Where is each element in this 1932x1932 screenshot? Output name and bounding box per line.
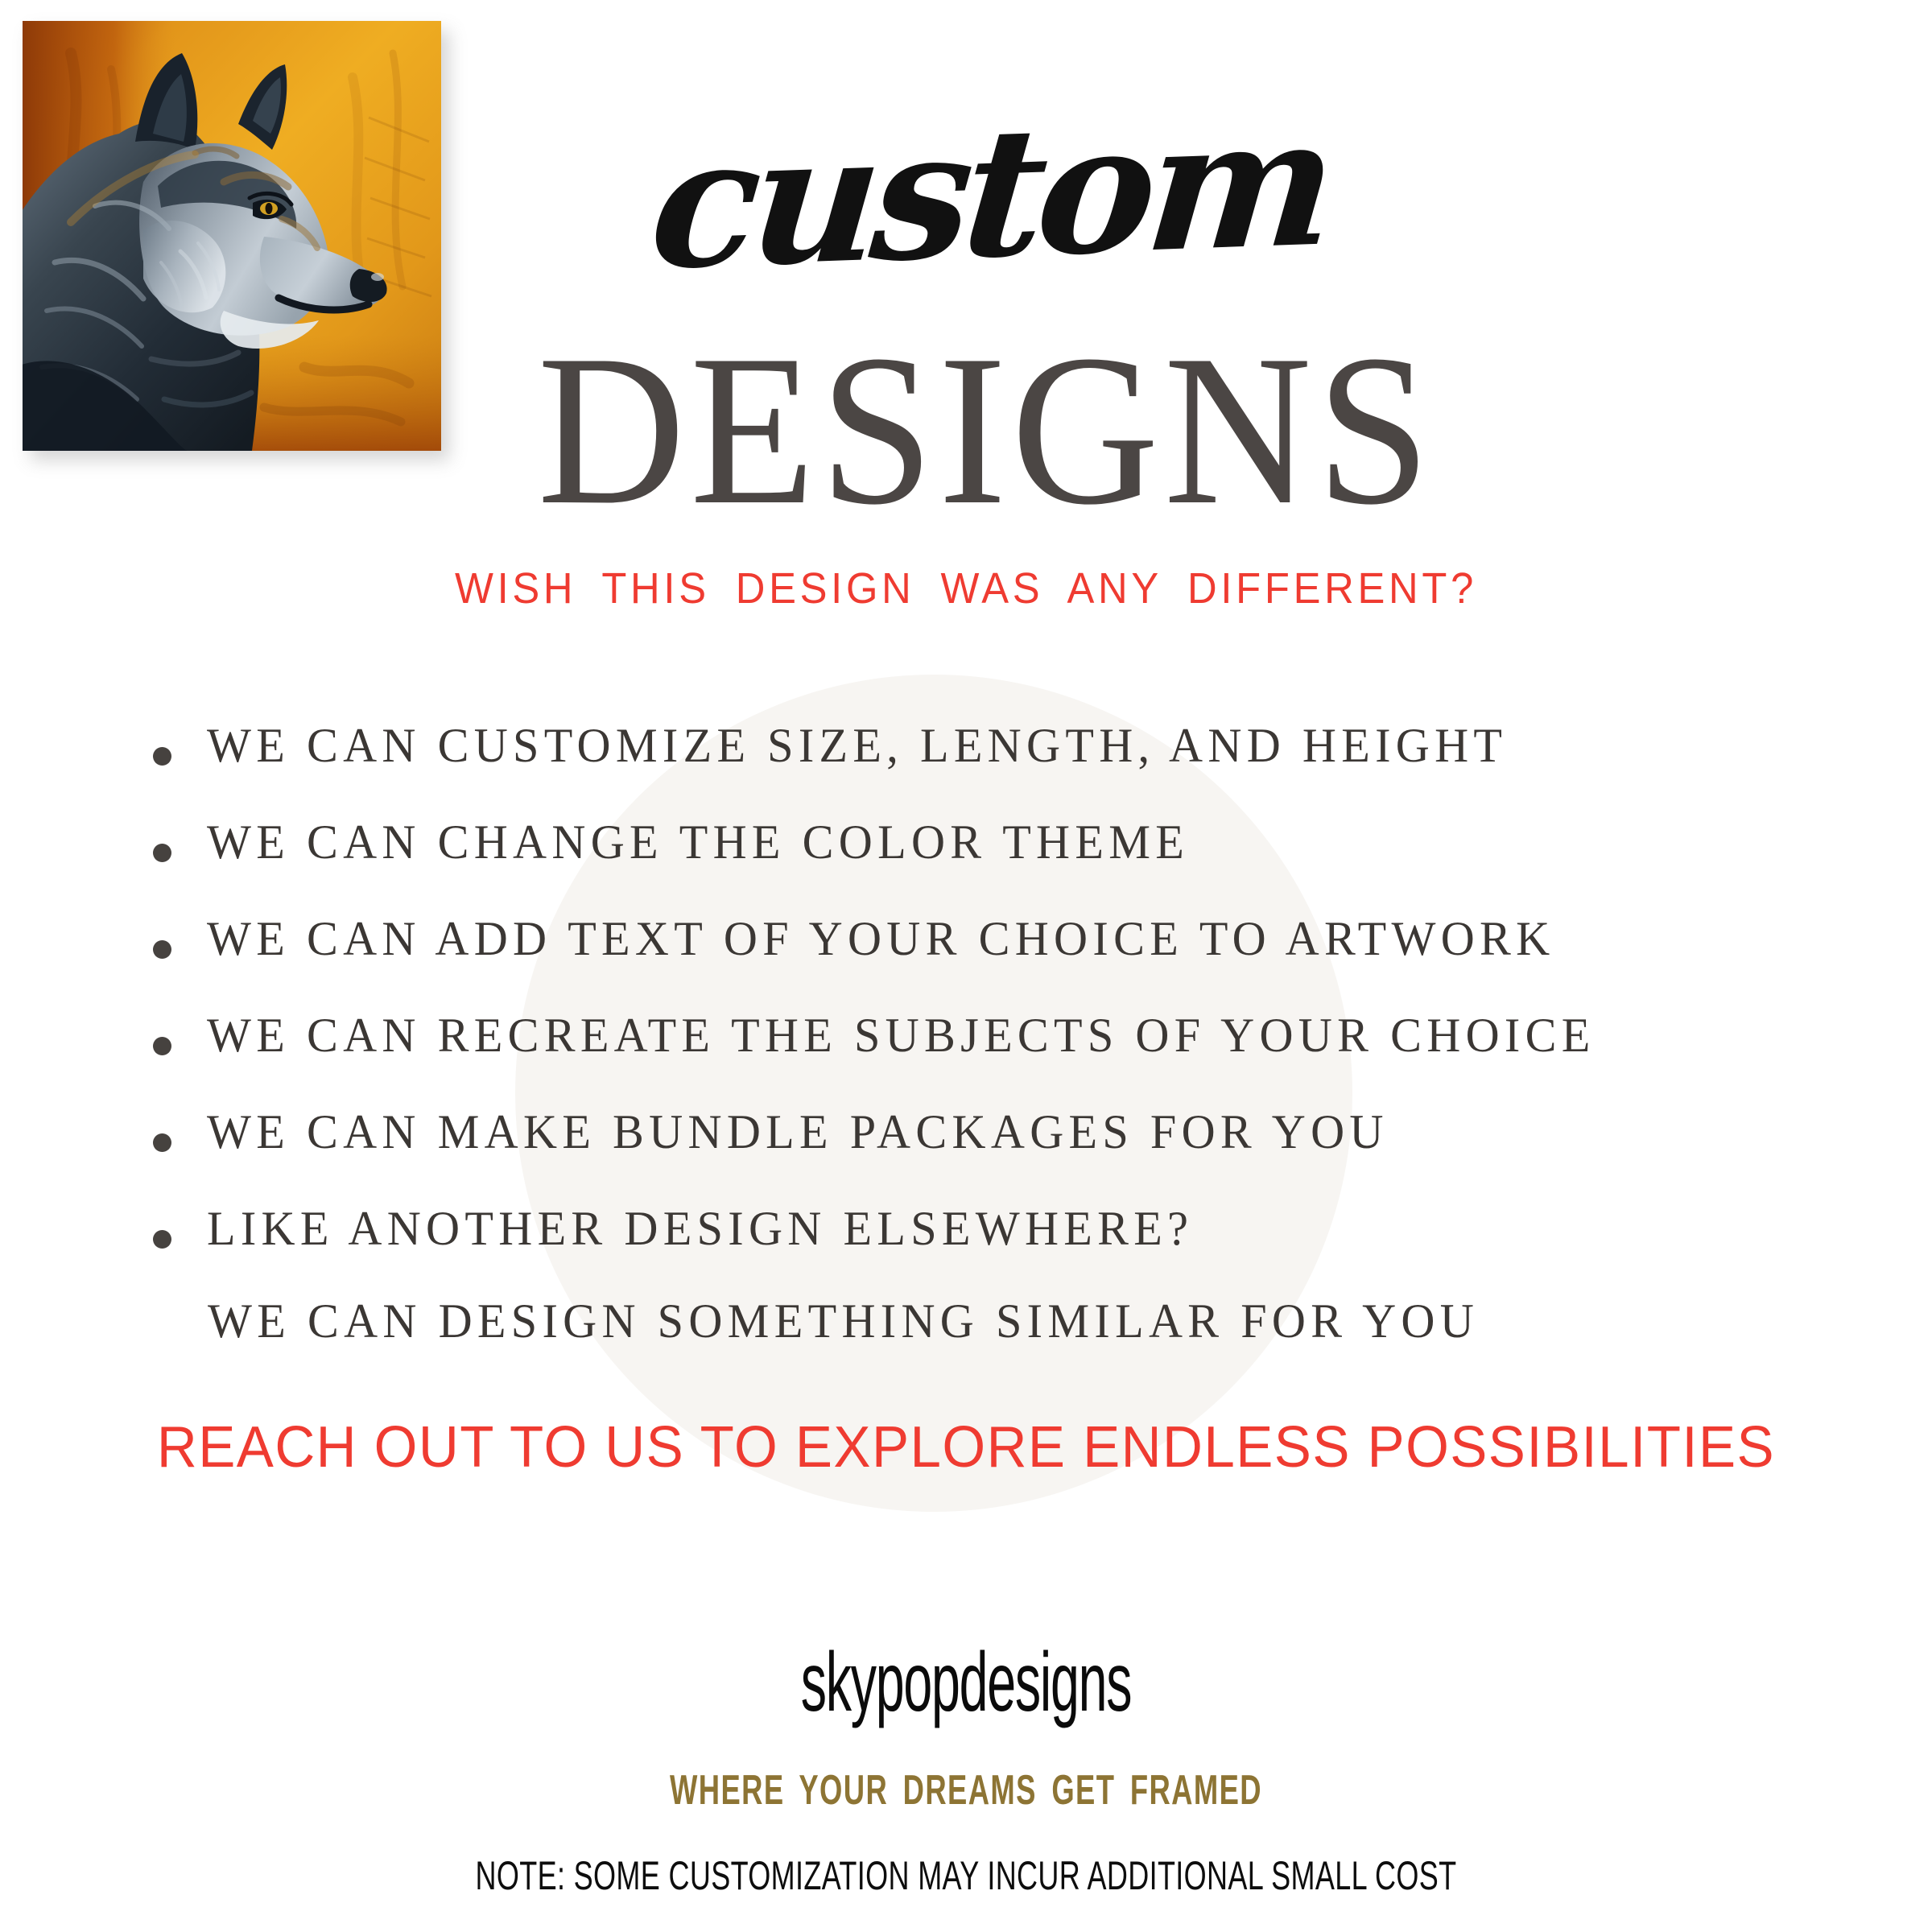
feature-text: WE CAN RECREATE THE SUBJECTS OF YOUR CHO… xyxy=(207,1006,1596,1065)
feature-text: WE CAN CUSTOMIZE SIZE, LENGTH, AND HEIGH… xyxy=(207,716,1507,775)
feature-continuation-text: WE CAN DESIGN SOMETHING SIMILAR FOR YOU xyxy=(208,1292,1479,1351)
bullet-dot-icon xyxy=(153,940,171,959)
brand-logo-text: skypopdesigns xyxy=(367,1641,1565,1724)
footer-note: NOTE: SOME CUSTOMIZATION MAY INCUR ADDIT… xyxy=(270,1856,1662,1896)
feature-text: LIKE ANOTHER DESIGN ELSEWHERE? xyxy=(207,1199,1193,1258)
bullet-dot-icon xyxy=(153,1230,171,1249)
bullet-dot-icon xyxy=(153,1133,171,1152)
feature-text: WE CAN ADD TEXT OF YOUR CHOICE TO ARTWOR… xyxy=(207,910,1554,968)
bullet-dot-icon xyxy=(153,747,171,766)
feature-list: WE CAN CUSTOMIZE SIZE, LENGTH, AND HEIGH… xyxy=(153,716,1843,1296)
bullet-dot-icon xyxy=(153,1037,171,1055)
cta-text: REACH OUT TO US TO EXPLORE ENDLESS POSSI… xyxy=(39,1418,1893,1476)
artwork-thumbnail[interactable] xyxy=(23,21,441,451)
poster-canvas: custom DESIGNS WISH THIS DESIGN WAS ANY … xyxy=(0,0,1932,1932)
list-item: WE CAN MAKE BUNDLE PACKAGES FOR YOU xyxy=(153,1103,1843,1199)
list-item: WE CAN ADD TEXT OF YOUR CHOICE TO ARTWOR… xyxy=(153,910,1843,1006)
list-item: WE CAN RECREATE THE SUBJECTS OF YOUR CHO… xyxy=(153,1006,1843,1103)
feature-text: WE CAN CHANGE THE COLOR THEME xyxy=(207,813,1189,872)
list-item: WE CAN CHANGE THE COLOR THEME xyxy=(153,813,1843,910)
wolf-painting-image xyxy=(23,21,441,451)
list-item: LIKE ANOTHER DESIGN ELSEWHERE? xyxy=(153,1199,1843,1296)
brand-tagline: WHERE YOUR DREAMS GET FRAMED xyxy=(290,1769,1642,1811)
bullet-dot-icon xyxy=(153,844,171,862)
list-item: WE CAN CUSTOMIZE SIZE, LENGTH, AND HEIGH… xyxy=(153,716,1843,813)
feature-text: WE CAN MAKE BUNDLE PACKAGES FOR YOU xyxy=(207,1103,1389,1162)
subtitle-question: WISH THIS DESIGN WAS ANY DIFFERENT? xyxy=(58,567,1874,610)
